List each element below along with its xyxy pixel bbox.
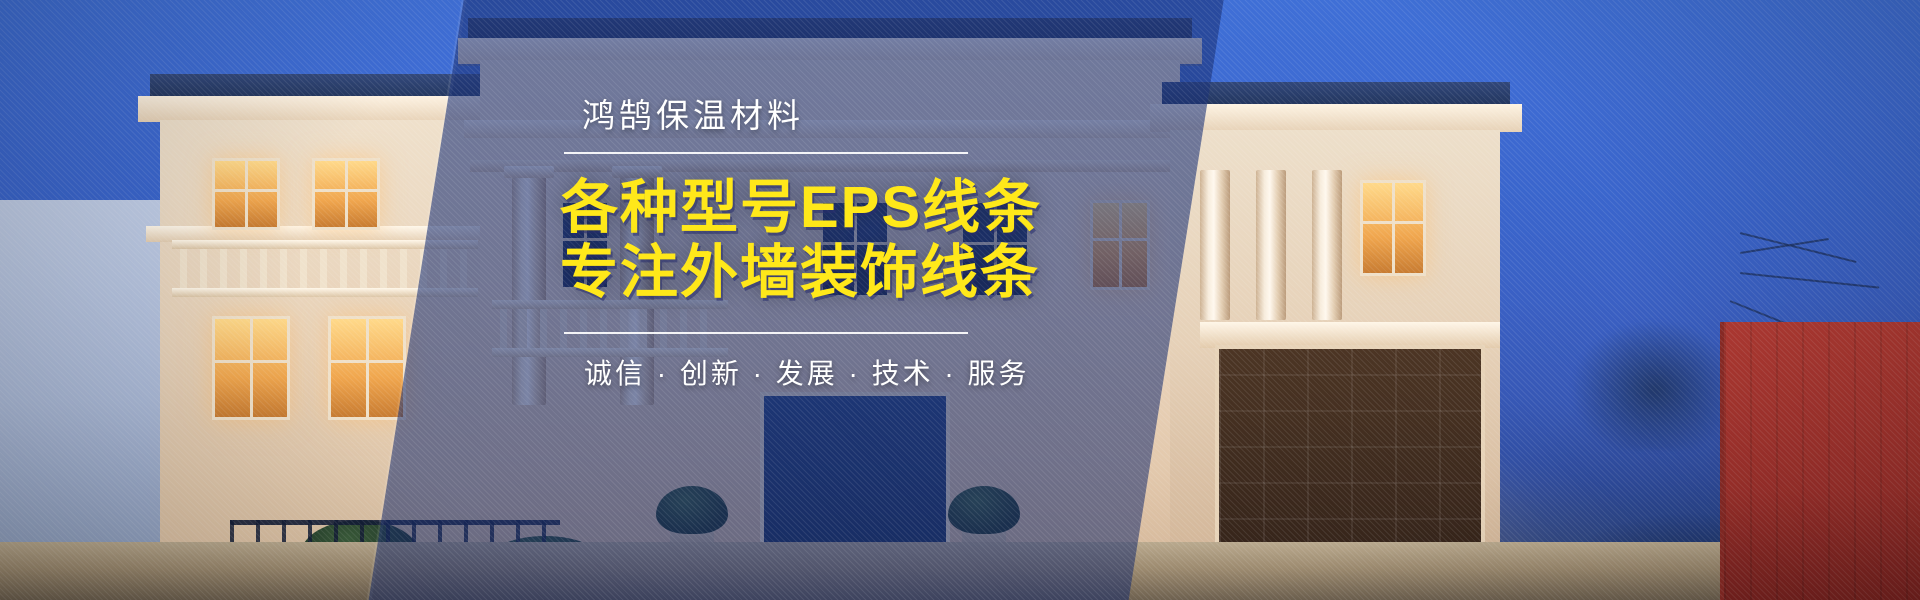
column <box>1256 170 1286 320</box>
divider-top <box>564 152 968 154</box>
window-lit <box>212 316 290 420</box>
hero-banner: 鸿鹄保温材料 各种型号EPS线条 专注外墙装饰线条 诚信 · 创新 · 发展 ·… <box>0 0 1920 600</box>
headline-line-1: 各种型号EPS线条 <box>560 175 1042 240</box>
tagline: 诚信 · 创新 · 发展 · 技术 · 服务 <box>560 352 1260 392</box>
far-left-building <box>0 200 180 600</box>
window-lit <box>312 158 380 230</box>
headline: 各种型号EPS线条 专注外墙装饰线条 <box>560 176 1260 306</box>
window-lit <box>328 316 406 420</box>
headline-line-2: 专注外墙装饰线条 <box>560 241 1260 306</box>
column <box>1312 170 1342 320</box>
window-lit <box>212 158 280 230</box>
divider-bottom <box>564 332 968 334</box>
red-container <box>1720 322 1920 600</box>
banner-content: 鸿鹄保温材料 各种型号EPS线条 专注外墙装饰线条 诚信 · 创新 · 发展 ·… <box>560 96 1260 392</box>
window-lit <box>1360 180 1426 276</box>
company-name: 鸿鹄保温材料 <box>560 96 1260 136</box>
